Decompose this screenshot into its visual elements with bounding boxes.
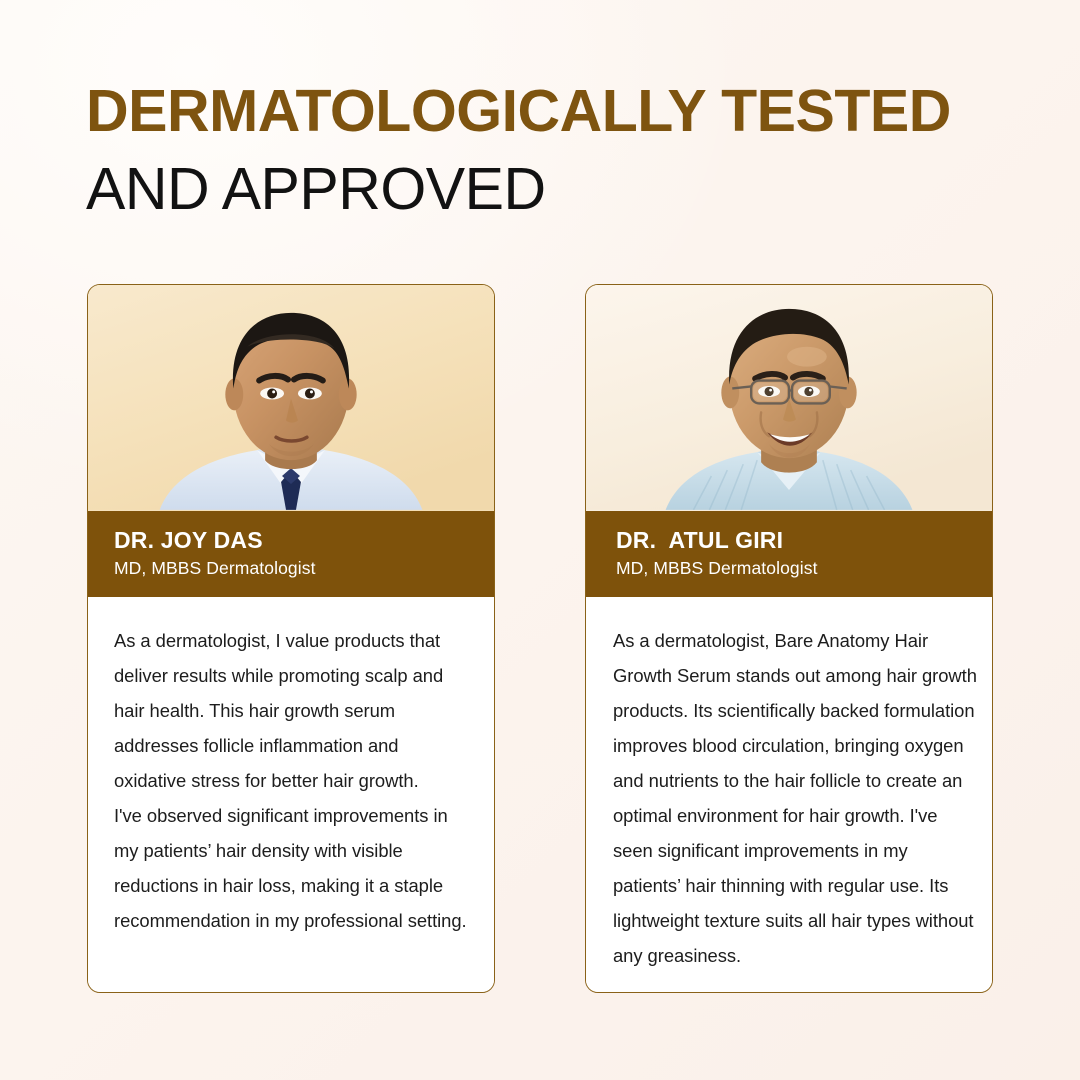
doctor-card-joy-das: DR. JOY DAS MD, MBBS Dermatologist As a … [87,284,495,993]
doctor-role: MD, MBBS Dermatologist [616,555,992,581]
page-title-accent: DERMATOLOGICALLY TESTED [86,78,951,144]
doctor-photo-joy-das [88,285,494,511]
doctor-card-atul-giri: DR. ATUL GIRI MD, MBBS Dermatologist As … [585,284,993,993]
doctor-name: DR. ATUL GIRI [616,525,992,555]
portrait-illustration-icon [586,285,992,510]
doctor-quote: As a dermatologist, I value products tha… [88,597,494,992]
page-title: DERMATOLOGICALLY TESTED AND APPROVED [86,72,986,228]
doctor-name-band-joy-das: DR. JOY DAS MD, MBBS Dermatologist [88,511,494,597]
doctor-quote: As a dermatologist, Bare Anatomy Hair Gr… [586,597,992,992]
portrait-illustration-icon [88,285,494,510]
doctor-card-grid: DR. JOY DAS MD, MBBS Dermatologist As a … [87,284,993,993]
doctor-name: DR. JOY DAS [114,525,494,555]
doctor-role: MD, MBBS Dermatologist [114,555,494,581]
doctor-name-band-atul-giri: DR. ATUL GIRI MD, MBBS Dermatologist [586,511,992,597]
doctor-photo-atul-giri [586,285,992,511]
